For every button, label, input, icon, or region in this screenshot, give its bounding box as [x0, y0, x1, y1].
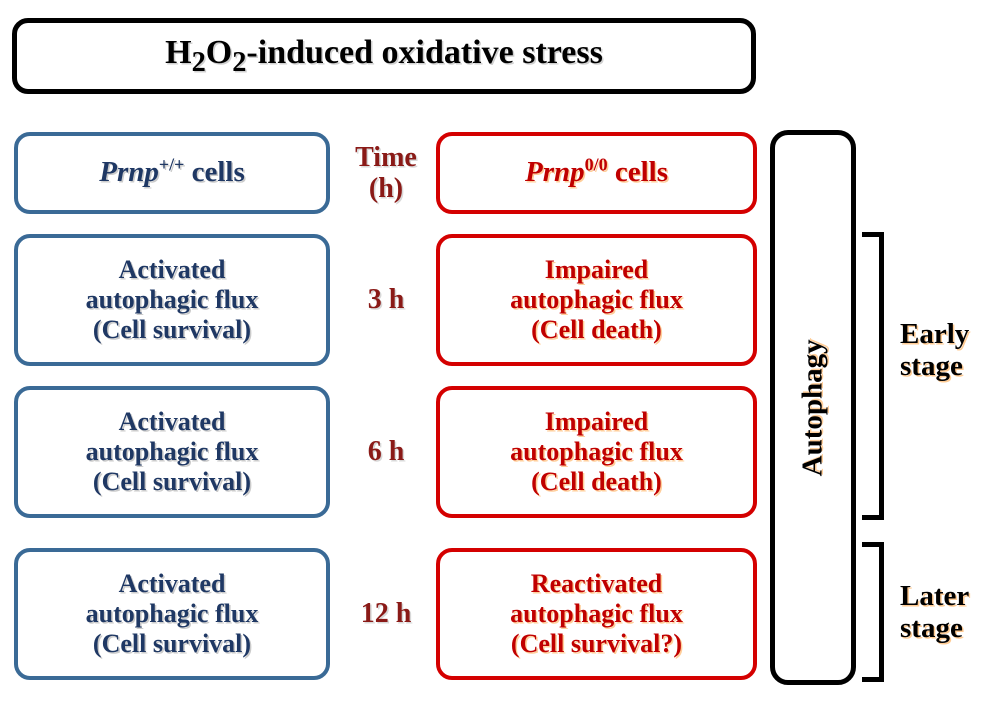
cell-line-1: Activated — [119, 407, 226, 437]
cell-line-1: Activated — [119, 255, 226, 285]
early-stage-line-1: Early — [900, 318, 969, 350]
cell-line-2: autophagic flux — [510, 285, 683, 315]
cell-line-1: Impaired — [545, 255, 649, 285]
diagram-canvas: H2O2-induced oxidative stress Prnp+/+ ce… — [0, 0, 1000, 704]
autophagy-label: Autophagy — [796, 339, 830, 476]
cell-line-3: (Cell death) — [531, 315, 662, 345]
cell-line-3: (Cell survival) — [93, 467, 251, 497]
early-stage-line-2: stage — [900, 350, 963, 382]
cell-line-1: Reactivated — [531, 569, 662, 599]
cell-line-3: (Cell survival) — [93, 315, 251, 345]
time-header-line-1: Time — [355, 142, 417, 173]
cell-line-3: (Cell death) — [531, 467, 662, 497]
knockout-cell-row-3: Reactivated autophagic flux (Cell surviv… — [436, 548, 757, 680]
knockout-column-header: Prnp0/0 cells — [436, 132, 757, 214]
knockout-header-text: Prnp0/0 cells — [525, 156, 668, 190]
cell-line-2: autophagic flux — [86, 285, 259, 315]
title-text: H2O2-induced oxidative stress — [165, 33, 603, 80]
cell-line-3: (Cell survival?) — [511, 629, 682, 659]
later-stage-label: Later stage — [900, 562, 1000, 662]
cell-line-1: Impaired — [545, 407, 649, 437]
later-stage-bracket — [862, 542, 884, 682]
cell-line-1: Activated — [119, 569, 226, 599]
cell-line-2: autophagic flux — [510, 599, 683, 629]
time-column-header: Time (h) — [340, 132, 432, 214]
time-header-line-2: (h) — [369, 173, 403, 204]
time-label-row-2: 6 h — [340, 386, 432, 518]
early-stage-label: Early stage — [900, 300, 1000, 400]
wildtype-cell-row-3: Activated autophagic flux (Cell survival… — [14, 548, 330, 680]
cell-line-3: (Cell survival) — [93, 629, 251, 659]
title-box: H2O2-induced oxidative stress — [12, 18, 756, 94]
cell-line-2: autophagic flux — [510, 437, 683, 467]
later-stage-line-2: stage — [900, 612, 963, 644]
autophagy-bar: Autophagy — [770, 130, 856, 685]
time-label-row-1: 3 h — [340, 234, 432, 366]
cell-line-2: autophagic flux — [86, 437, 259, 467]
wildtype-cell-row-1: Activated autophagic flux (Cell survival… — [14, 234, 330, 366]
later-stage-line-1: Later — [900, 580, 969, 612]
wildtype-header-text: Prnp+/+ cells — [99, 156, 245, 190]
early-stage-bracket — [862, 232, 884, 520]
wildtype-column-header: Prnp+/+ cells — [14, 132, 330, 214]
knockout-cell-row-2: Impaired autophagic flux (Cell death) — [436, 386, 757, 518]
wildtype-cell-row-2: Activated autophagic flux (Cell survival… — [14, 386, 330, 518]
cell-line-2: autophagic flux — [86, 599, 259, 629]
knockout-cell-row-1: Impaired autophagic flux (Cell death) — [436, 234, 757, 366]
time-label-row-3: 12 h — [340, 548, 432, 680]
